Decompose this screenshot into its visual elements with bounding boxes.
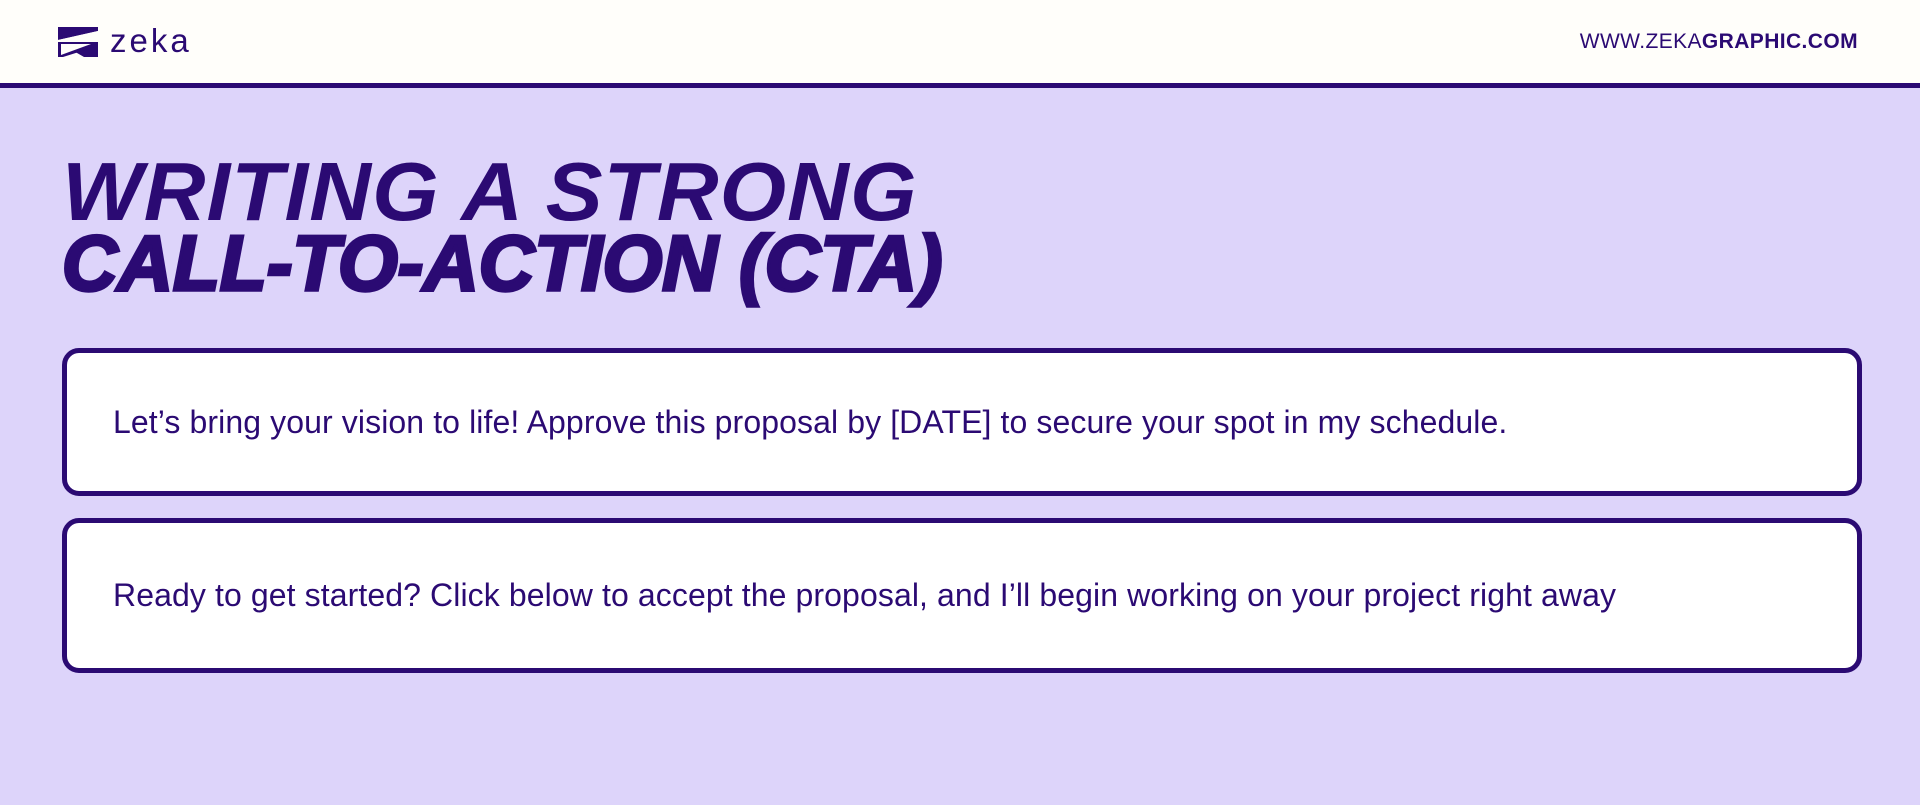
brand-wordmark: zeka [110,24,192,60]
page-title: WRITING A STRONG CALL-TO-ACTION (CTA) [62,88,1862,302]
cta-example-card-1: Let’s bring your vision to life! Approve… [62,348,1862,496]
cta-example-list: Let’s bring your vision to life! Approve… [62,348,1862,673]
site-url-prefix: WWW.ZEKA [1580,30,1702,53]
brand-logo[interactable]: zeka [58,24,192,60]
page-title-line-2: CALL-TO-ACTION (CTA) [62,224,1835,302]
zeka-flag-mark-icon [58,27,98,57]
site-url-suffix: GRAPHIC.COM [1702,30,1858,53]
cta-example-text-1: Let’s bring your vision to life! Approve… [113,401,1507,444]
page-header: zeka WWW.ZEKAGRAPHIC.COM [0,0,1920,88]
slide-body: WRITING A STRONG CALL-TO-ACTION (CTA) Le… [0,88,1920,805]
cta-example-card-2: Ready to get started? Click below to acc… [62,518,1862,673]
site-url[interactable]: WWW.ZEKAGRAPHIC.COM [1580,31,1858,52]
cta-example-text-2: Ready to get started? Click below to acc… [113,574,1616,617]
